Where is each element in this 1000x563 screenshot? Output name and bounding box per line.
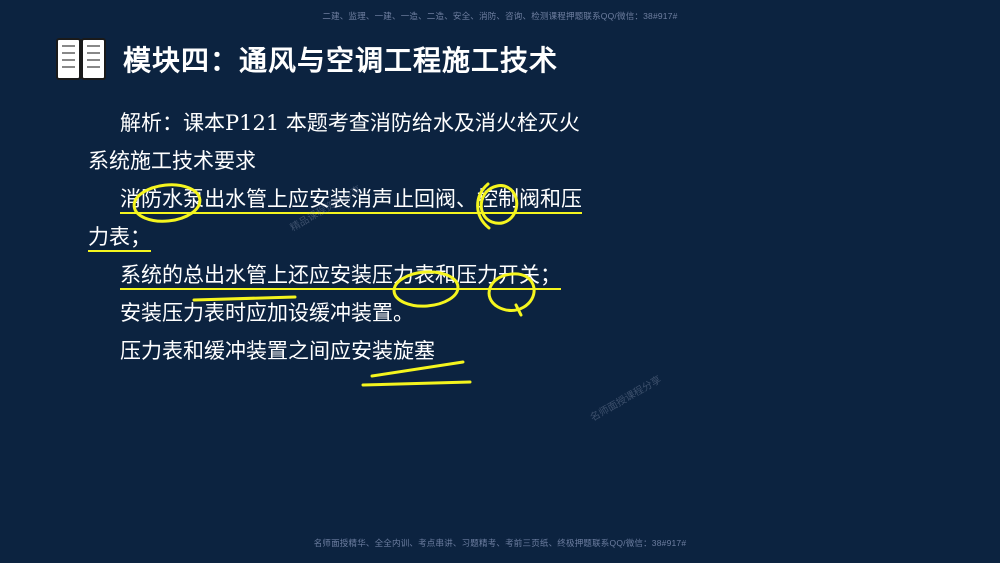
content-body: 解析：课本P121 本题考查消防给水及消火栓灭火 系统施工技术要求 消防水泵出水… [88,104,908,370]
content-line-5-text: 系统的总出水管上还应安装压力表和压力开关； [120,263,561,290]
bottom-watermark: 名师面授精华、全全内训、考点串讲、习题精考、考前三页纸、终极押题联系QQ/微信：… [0,537,1000,549]
content-line-6: 安装压力表时应加设缓冲装置。 [88,294,908,332]
side-watermark-2: 名师面授课程分享 [587,371,664,424]
content-line-2: 系统施工技术要求 [88,142,908,180]
content-line-1: 解析：课本P121 本题考查消防给水及消火栓灭火 [88,104,908,142]
underline-xuanse-icon [363,382,470,385]
page-title: 模块四：通风与空调工程施工技术 [123,39,558,79]
content-line-4: 力表； [88,218,908,256]
open-book-icon [55,36,107,82]
content-line-7: 压力表和缓冲装置之间应安装旋塞 [88,332,908,370]
content-line-3: 消防水泵出水管上应安装消声止回阀、控制阀和压 [88,180,908,218]
slide-canvas: 二建、监理、一建、一造、二造、安全、消防、咨询、检测课程押题联系QQ/微信：38… [0,0,1000,563]
content-line-4-text: 力表； [88,225,151,252]
slide-title-row: 模块四：通风与空调工程施工技术 [55,36,558,82]
top-watermark: 二建、监理、一建、一造、二造、安全、消防、咨询、检测课程押题联系QQ/微信：38… [0,10,1000,22]
content-line-5: 系统的总出水管上还应安装压力表和压力开关； [88,256,908,294]
